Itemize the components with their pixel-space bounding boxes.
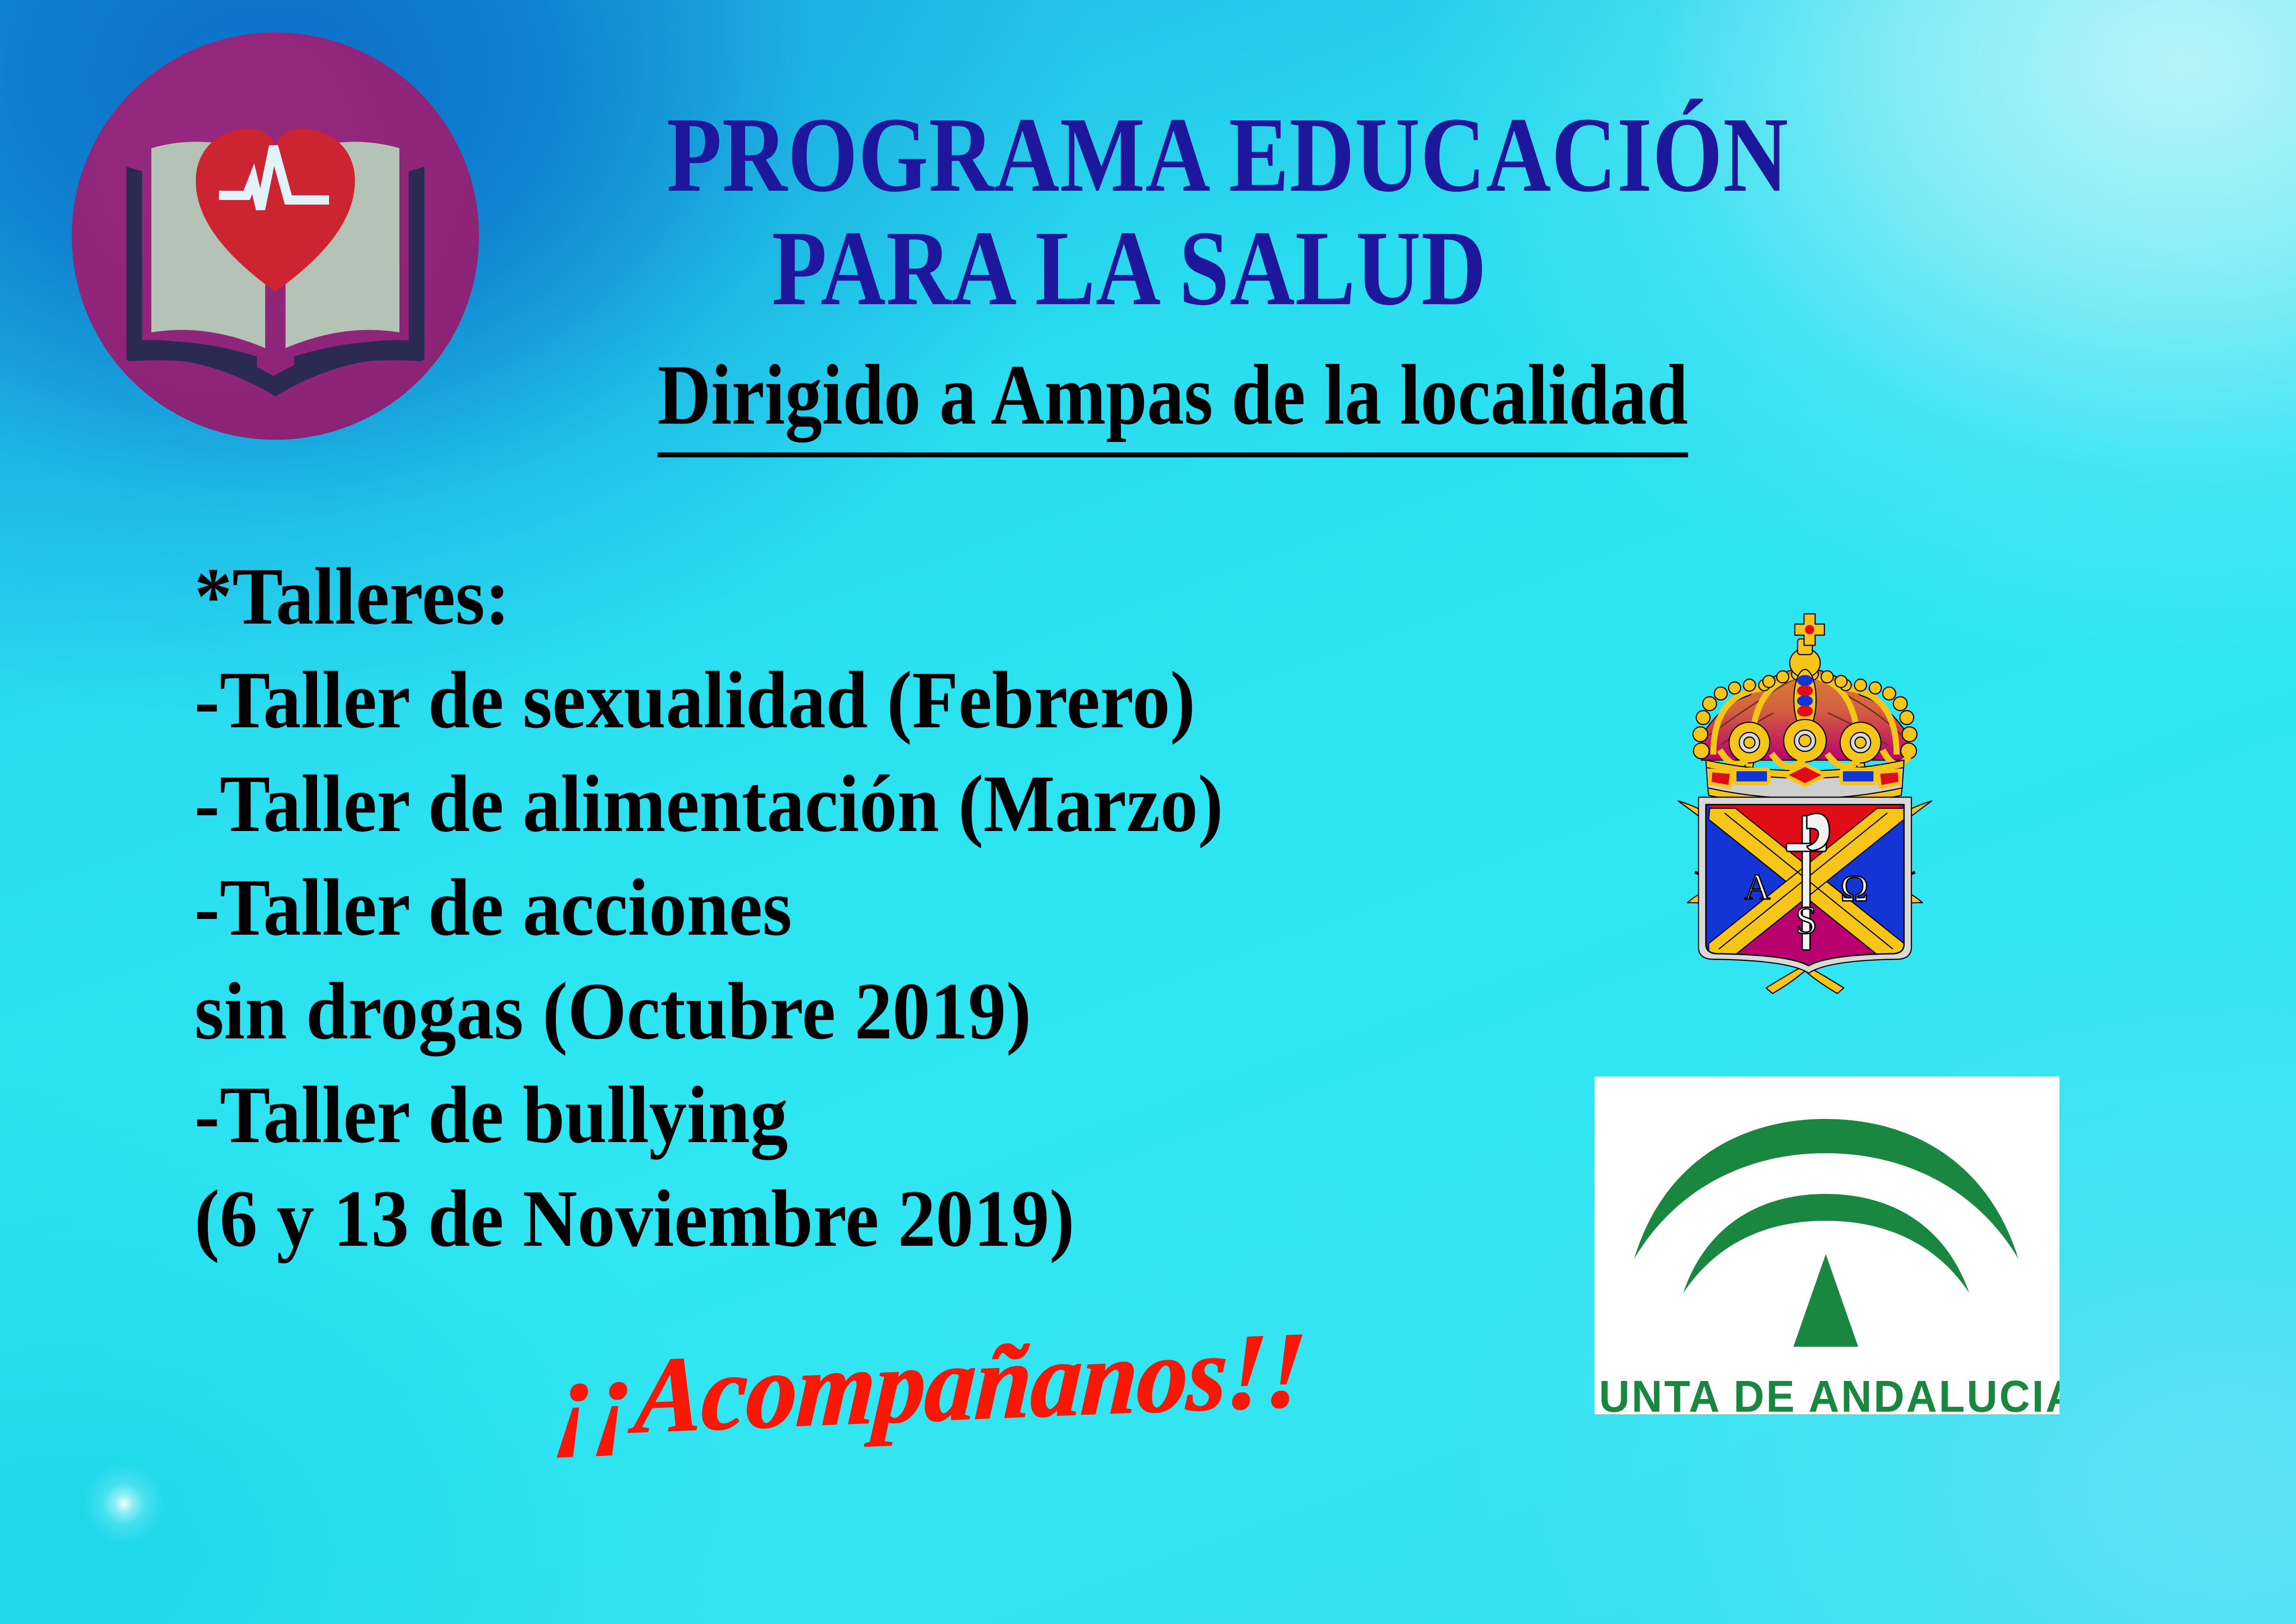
subtitle-underlined-text: Dirigido a Ampas de la localidad [658,350,1688,457]
background-sparkle [82,1462,166,1545]
omega-letter: Ω [1841,867,1869,909]
call-to-action-text: ¡¡Acompañanos!! [554,1315,1242,1457]
list-item: -Taller de alimentación (Marzo) [194,761,1443,848]
junta-de-andalucia-logo: JUNTA DE ANDALUCIA [1594,1076,2060,1414]
page-subtitle: Dirigido a Ampas de la localidad [658,350,1629,457]
list-item: (6 y 13 de Noviembre 2019) [194,1175,1443,1262]
poster-canvas: PROGRAMA EDUCACIÓN PARA LA SALUD Dirigid… [0,0,2296,1624]
junta-wordmark: JUNTA DE ANDALUCIA [1594,1371,2060,1414]
workshops-list: *Talleres: -Taller de sexualidad (Febrer… [194,553,1537,1279]
alpha-letter: A [1744,867,1770,907]
page-title-line-2: PARA LA SALUD [666,213,1592,324]
coat-of-arms-icon: A Ω S [1611,551,1999,1005]
initial-letter: S [1795,898,1817,942]
list-item: sin drogas (Octubre 2019) [194,968,1443,1055]
list-item: -Taller de acciones [194,864,1443,951]
list-item: -Taller de bullying [194,1072,1443,1159]
list-item: -Taller de sexualidad (Febrero) [194,657,1443,744]
page-title-line-1: PROGRAMA EDUCACIÓN [666,100,1592,211]
workshops-heading: *Talleres: [194,553,1443,640]
health-education-logo [72,32,479,440]
